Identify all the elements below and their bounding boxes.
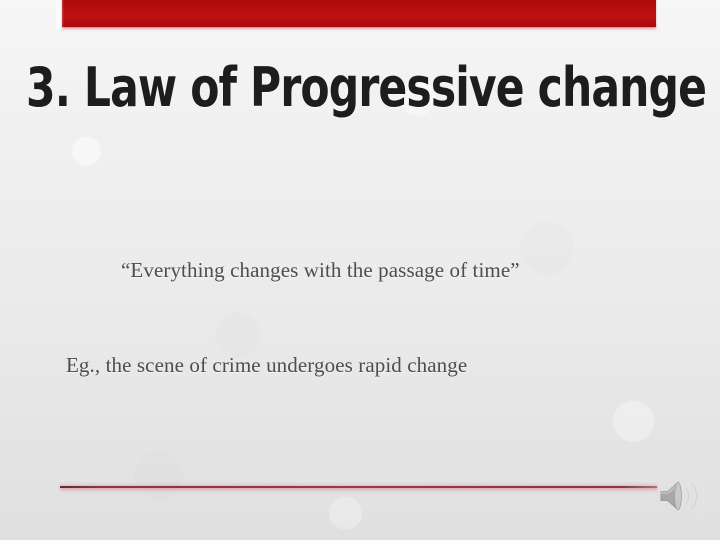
slide-title: 3. Law of Progressive change xyxy=(26,57,611,119)
presentation-slide: 3. Law of Progressive change “Everything… xyxy=(0,0,720,540)
bottom-rule xyxy=(60,486,657,488)
slide-body-quote: “Everything changes with the passage of … xyxy=(121,258,520,283)
top-banner xyxy=(62,0,656,27)
speaker-icon[interactable] xyxy=(655,470,707,522)
slide-body-example: Eg., the scene of crime undergoes rapid … xyxy=(66,353,467,378)
top-banner-left-fade xyxy=(56,0,64,30)
